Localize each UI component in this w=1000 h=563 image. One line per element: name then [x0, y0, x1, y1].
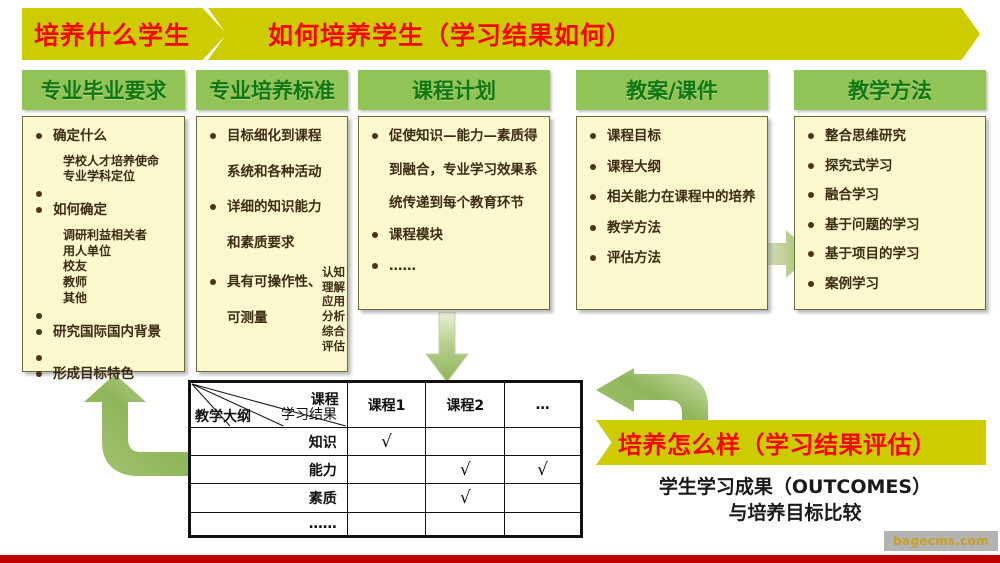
- bloom-item: 理解: [322, 280, 345, 295]
- list-item: 课程目标: [587, 127, 759, 147]
- matrix-col-header-3: …: [505, 383, 581, 428]
- bloom-item: 评估: [322, 339, 345, 354]
- list-item: 课程大纲: [587, 158, 759, 178]
- matrix-row-label: ……: [191, 512, 348, 535]
- matrix-cell[interactable]: [505, 512, 581, 535]
- table-row: 素质 √: [191, 484, 581, 512]
- list-item: 形成目标特色: [33, 365, 176, 385]
- matrix-cell[interactable]: [505, 428, 581, 456]
- feedback-up-arrow-icon: [82, 372, 204, 484]
- watermark: bagecms.com: [884, 531, 998, 551]
- list-item: 学校人才培养使命: [33, 154, 176, 170]
- list-item: 研究国际国内背景: [33, 323, 176, 343]
- list-item: 促使知识—能力—素质得: [369, 127, 541, 147]
- list-item: 评估方法: [587, 249, 759, 269]
- list-item: 探究式学习: [805, 157, 977, 177]
- matrix-cell[interactable]: [347, 512, 426, 535]
- list-item: 校友: [33, 259, 176, 275]
- list-item: 和素质要求: [207, 234, 339, 254]
- banner-how-to-cultivate-label: 如何培养学生（学习结果如何）: [268, 16, 632, 52]
- list-item: 融合学习: [805, 186, 977, 206]
- list-item: 确定什么: [33, 127, 176, 147]
- banner-assessment-label: 培养怎么样（学习结果评估）: [618, 425, 937, 460]
- column-header-label: 教学方法: [848, 75, 932, 105]
- matrix-row-label: 知识: [191, 428, 348, 456]
- banner-what-students: 培养什么学生: [22, 8, 227, 60]
- bullet-list-teaching-methods: 整合思维研究 探究式学习 融合学习 基于问题的学习 基于项目的学习 案例学习: [805, 127, 977, 294]
- list-item: 可测量: [207, 309, 339, 329]
- spacer: [33, 185, 176, 194]
- caption-line-1: 学生学习成果（OUTCOMES）: [600, 475, 990, 501]
- bloom-item: 综合: [322, 324, 345, 339]
- matrix-cell[interactable]: [426, 428, 505, 456]
- banner-what-students-label: 培养什么学生: [34, 16, 190, 52]
- list-item: 基于项目的学习: [805, 245, 977, 265]
- column-header-teaching-methods[interactable]: 教学方法: [794, 70, 986, 110]
- caption-line-2: 与培养目标比较: [600, 501, 990, 527]
- list-item: 其他: [33, 291, 176, 307]
- content-box-training-standards: 目标细化到课程 系统和各种活动 详细的知识能力 和素质要求 具有可操作性、 可测…: [196, 116, 348, 372]
- outcomes-course-matrix[interactable]: 课程 学习结果 教学大纲 课程1 课程2 … 知识 √ 能力 √ √: [188, 380, 583, 538]
- matrix-cell[interactable]: √: [426, 456, 505, 484]
- list-item: 整合思维研究: [805, 127, 977, 147]
- spacer: [33, 307, 176, 316]
- bottom-rail: [0, 555, 1000, 563]
- column-header-graduation-requirements[interactable]: 专业毕业要求: [22, 70, 185, 110]
- content-box-teaching-methods: 整合思维研究 探究式学习 融合学习 基于问题的学习 基于项目的学习 案例学习: [794, 116, 986, 310]
- list-item: 调研利益相关者: [33, 228, 176, 244]
- bloom-item: 认知: [322, 265, 345, 280]
- list-item: 到融合，专业学习效果系: [369, 161, 541, 181]
- list-item: 案例学习: [805, 275, 977, 295]
- list-item: 详细的知识能力: [207, 198, 339, 218]
- list-item: 基于问题的学习: [805, 216, 977, 236]
- table-header-row: 课程 学习结果 教学大纲 课程1 课程2 …: [191, 383, 581, 428]
- matrix-corner-cell: 课程 学习结果 教学大纲: [191, 383, 348, 428]
- matrix-cell[interactable]: [426, 512, 505, 535]
- list-item: 具有可操作性、: [207, 273, 339, 293]
- bullet-list-graduation-requirements: 确定什么 学校人才培养使命 专业学科定位 如何确定 调研利益相关者 用人单位 校…: [33, 127, 176, 385]
- matrix-col-header-2: 课程2: [426, 383, 505, 428]
- list-item: 教学方法: [587, 219, 759, 239]
- list-item: 系统和各种活动: [207, 163, 339, 183]
- table-row: ……: [191, 512, 581, 535]
- matrix-cell[interactable]: [347, 484, 426, 512]
- bloom-item: 分析: [322, 309, 345, 324]
- bloom-taxonomy-list: 认知 理解 应用 分析 综合 评估: [322, 265, 345, 353]
- column-header-course-plan[interactable]: 课程计划: [358, 70, 550, 110]
- outcomes-caption: 学生学习成果（OUTCOMES） 与培养目标比较: [600, 475, 990, 526]
- bullet-list-lesson-plan: 课程目标 课程大纲 相关能力在课程中的培养 教学方法 评估方法: [587, 127, 759, 269]
- slide-canvas: 如何培养学生（学习结果如何） 培养什么学生 专业毕业要求 专业培养标准 课程计划…: [0, 0, 1000, 563]
- matrix-col-header-1: 课程1: [347, 383, 426, 428]
- content-box-lesson-plan: 课程目标 课程大纲 相关能力在课程中的培养 教学方法 评估方法: [576, 116, 768, 310]
- column-header-lesson-plan[interactable]: 教案/课件: [576, 70, 768, 110]
- matrix-cell[interactable]: √: [505, 456, 581, 484]
- list-item: 专业学科定位: [33, 169, 176, 185]
- banner-assessment: 培养怎么样（学习结果评估）: [596, 420, 986, 465]
- banner-how-to-cultivate: 如何培养学生（学习结果如何）: [208, 8, 980, 60]
- matrix-cell[interactable]: √: [347, 428, 426, 456]
- table-row: 知识 √: [191, 428, 581, 456]
- left-rail: [0, 0, 7, 563]
- matrix-table: 课程 学习结果 教学大纲 课程1 课程2 … 知识 √ 能力 √ √: [190, 382, 581, 536]
- content-box-course-plan: 促使知识—能力—素质得 到融合，专业学习效果系 统传递到每个教育环节 课程模块 …: [358, 116, 550, 310]
- matrix-row-label: 素质: [191, 484, 348, 512]
- content-box-graduation-requirements: 确定什么 学校人才培养使命 专业学科定位 如何确定 调研利益相关者 用人单位 校…: [22, 116, 185, 372]
- bloom-item: 应用: [322, 294, 345, 309]
- list-item: 教师: [33, 275, 176, 291]
- list-item: 相关能力在课程中的培养: [587, 188, 759, 208]
- table-row: 能力 √ √: [191, 456, 581, 484]
- column-header-label: 教案/课件: [626, 75, 718, 105]
- bullet-list-training-standards: 目标细化到课程 系统和各种活动 详细的知识能力 和素质要求 具有可操作性、 可测…: [207, 127, 339, 328]
- list-item: 用人单位: [33, 244, 176, 260]
- matrix-cell[interactable]: [347, 456, 426, 484]
- down-arrow-icon: [424, 312, 470, 384]
- spacer: [33, 349, 176, 358]
- matrix-row-label: 能力: [191, 456, 348, 484]
- list-item: 统传递到每个教育环节: [369, 194, 541, 214]
- matrix-cell[interactable]: [505, 484, 581, 512]
- bullet-list-course-plan: 促使知识—能力—素质得 到融合，专业学习效果系 统传递到每个教育环节 课程模块 …: [369, 127, 541, 277]
- list-item: 目标细化到课程: [207, 127, 339, 147]
- list-item: 如何确定: [33, 201, 176, 221]
- column-header-label: 专业毕业要求: [41, 75, 167, 105]
- matrix-cell[interactable]: √: [426, 484, 505, 512]
- column-header-label: 专业培养标准: [209, 75, 335, 105]
- matrix-corner-syllabus-label: 教学大纲: [195, 406, 251, 426]
- matrix-corner-outcome-label: 学习结果: [281, 404, 337, 424]
- list-item: 课程模块: [369, 226, 541, 246]
- list-item: ……: [369, 257, 541, 277]
- column-header-label: 课程计划: [412, 75, 496, 105]
- column-header-training-standards[interactable]: 专业培养标准: [196, 70, 348, 110]
